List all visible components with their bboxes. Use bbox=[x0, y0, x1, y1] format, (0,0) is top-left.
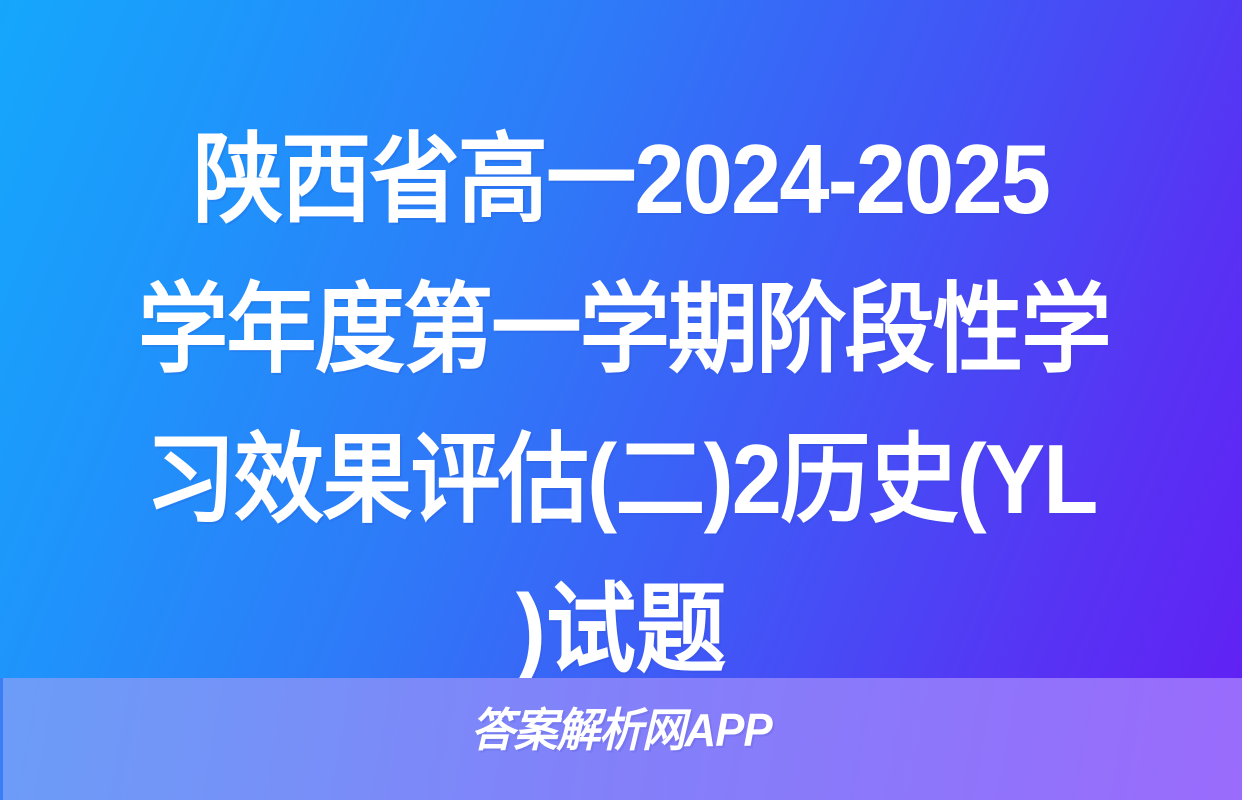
page-title: 陕西省高一2024-2025 学年度第一学期阶段性学 习效果评估(二)2历史(Y… bbox=[96, 104, 1146, 704]
watermark-label: 答案解析网APP bbox=[471, 703, 772, 757]
exam-cover-banner: 陕西省高一2024-2025 学年度第一学期阶段性学 习效果评估(二)2历史(Y… bbox=[0, 0, 1242, 800]
title-line-2: 学年度第一学期阶段性学 bbox=[138, 254, 1104, 404]
title-line-1: 陕西省高一2024-2025 bbox=[138, 104, 1104, 254]
title-line-3: 习效果评估(二)2历史(YL bbox=[138, 404, 1104, 554]
watermark: 答案解析网APP bbox=[0, 703, 1242, 757]
